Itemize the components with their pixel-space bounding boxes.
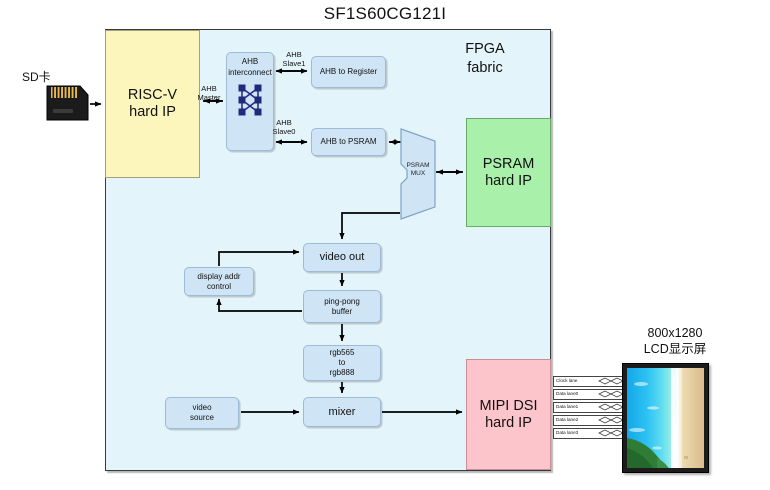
- mipi-lane: Clock lane: [553, 376, 625, 387]
- riscv-label-line1: RISC-V: [128, 87, 177, 104]
- ping-pong-buffer-block[interactable]: ping-pong buffer: [303, 290, 381, 323]
- mipi-label-line2: hard IP: [479, 415, 537, 432]
- lane-signal-icon: [598, 416, 624, 424]
- ahb-slave1-connector-label: AHB Slave1: [272, 50, 316, 68]
- video-source-block[interactable]: video source: [165, 397, 239, 429]
- riscv-hard-ip-block[interactable]: RISC-V hard IP: [105, 30, 200, 178]
- lane-signal-icon: [598, 403, 624, 411]
- ahb-interconnect-block[interactable]: AHB interconnect: [226, 52, 274, 151]
- psram-mux-label: PSRAM MUX: [400, 162, 436, 178]
- lane-signal-icon: [598, 390, 624, 398]
- psram-mux-label-line2: MUX: [400, 170, 436, 178]
- microsd-card-icon: [44, 84, 90, 122]
- lcd-name-label: LCD显示屏: [610, 341, 740, 357]
- rgb-line3: rgb888: [330, 368, 355, 378]
- mipi-lane-label: Data lane3: [556, 429, 578, 437]
- ahb-to-psram-label: AHB to PSRAM: [320, 137, 376, 147]
- sd-card-label: SD卡: [22, 68, 92, 85]
- mipi-lane-bundle: Clock lane Data lane0 Data lane1 Data la…: [553, 376, 623, 438]
- display-addr-line2: control: [197, 282, 240, 292]
- mipi-lane: Data lane3: [553, 428, 625, 439]
- psram-label-line2: hard IP: [483, 173, 535, 190]
- ahb-to-register-label: AHB to Register: [320, 67, 377, 77]
- ahb-slave0-connector-label: AHB Slave0: [262, 118, 306, 136]
- mipi-lane-label: Data lane1: [556, 403, 578, 411]
- mipi-dsi-hard-ip-block[interactable]: MIPI DSI hard IP: [466, 359, 551, 470]
- ahb-to-register-block[interactable]: AHB to Register: [311, 56, 386, 88]
- diagram-title: SF1S60CG121I: [0, 4, 770, 24]
- video-out-label: video out: [320, 251, 365, 264]
- ahb-slave1-line1: AHB: [272, 50, 316, 59]
- psram-hard-ip-block[interactable]: PSRAM hard IP: [466, 118, 551, 227]
- fpga-label-line2: fabric: [430, 59, 540, 78]
- ahb-master-connector-label: AHB Master: [187, 84, 231, 102]
- lcd-screen-image: [627, 368, 704, 468]
- rgb-line2: to: [339, 358, 346, 368]
- ahb-slave1-line2: Slave1: [272, 59, 316, 68]
- psram-label-line1: PSRAM: [483, 156, 535, 173]
- lane-signal-icon: [598, 377, 624, 385]
- mixer-label: mixer: [329, 406, 356, 419]
- riscv-label-line2: hard IP: [128, 104, 177, 121]
- lane-signal-icon: [598, 429, 624, 437]
- mipi-lane: Data lane1: [553, 402, 625, 413]
- ping-pong-line2: buffer: [324, 307, 360, 317]
- ahb-master-line2: Master: [187, 93, 231, 102]
- ahb-master-line1: AHB: [187, 84, 231, 93]
- fpga-fabric-label: FPGA fabric: [430, 40, 540, 78]
- mipi-label-line1: MIPI DSI: [479, 398, 537, 415]
- crossbar-switch-icon: [234, 81, 266, 121]
- ahb-slave0-line1: AHB: [262, 118, 306, 127]
- psram-mux-label-line1: PSRAM: [400, 162, 436, 170]
- fpga-label-line1: FPGA: [430, 40, 540, 59]
- ahb-slave0-line2: Slave0: [262, 127, 306, 136]
- lcd-caption: 800x1280 LCD显示屏: [610, 325, 740, 357]
- display-addr-control-block[interactable]: display addr control: [184, 267, 254, 296]
- video-source-line1: video: [192, 403, 211, 413]
- mipi-lane: Data lane0: [553, 389, 625, 400]
- mixer-block[interactable]: mixer: [303, 397, 381, 427]
- rgb-line1: rgb565: [330, 348, 355, 358]
- rgb565-to-rgb888-block[interactable]: rgb565 to rgb888: [303, 345, 381, 381]
- mipi-lane: Data lane2: [553, 415, 625, 426]
- psram-mux-block[interactable]: PSRAM MUX: [400, 128, 436, 220]
- video-out-block[interactable]: video out: [303, 243, 381, 272]
- ping-pong-line1: ping-pong: [324, 297, 360, 307]
- mipi-lane-label: Data lane2: [556, 416, 578, 424]
- ahb-to-psram-block[interactable]: AHB to PSRAM: [311, 128, 386, 156]
- lcd-resolution-label: 800x1280: [610, 325, 740, 341]
- ahb-interconnect-label-line2: interconnect: [228, 68, 272, 78]
- mipi-lane-label: Data lane0: [556, 390, 578, 398]
- mipi-lane-label: Clock lane: [556, 377, 577, 385]
- video-source-line2: source: [190, 413, 214, 423]
- display-addr-line1: display addr: [197, 272, 240, 282]
- ahb-interconnect-label-line1: AHB: [242, 57, 258, 67]
- diagram-canvas: SF1S60CG121I FPGA fabric: [0, 0, 770, 490]
- lcd-panel[interactable]: [622, 363, 709, 473]
